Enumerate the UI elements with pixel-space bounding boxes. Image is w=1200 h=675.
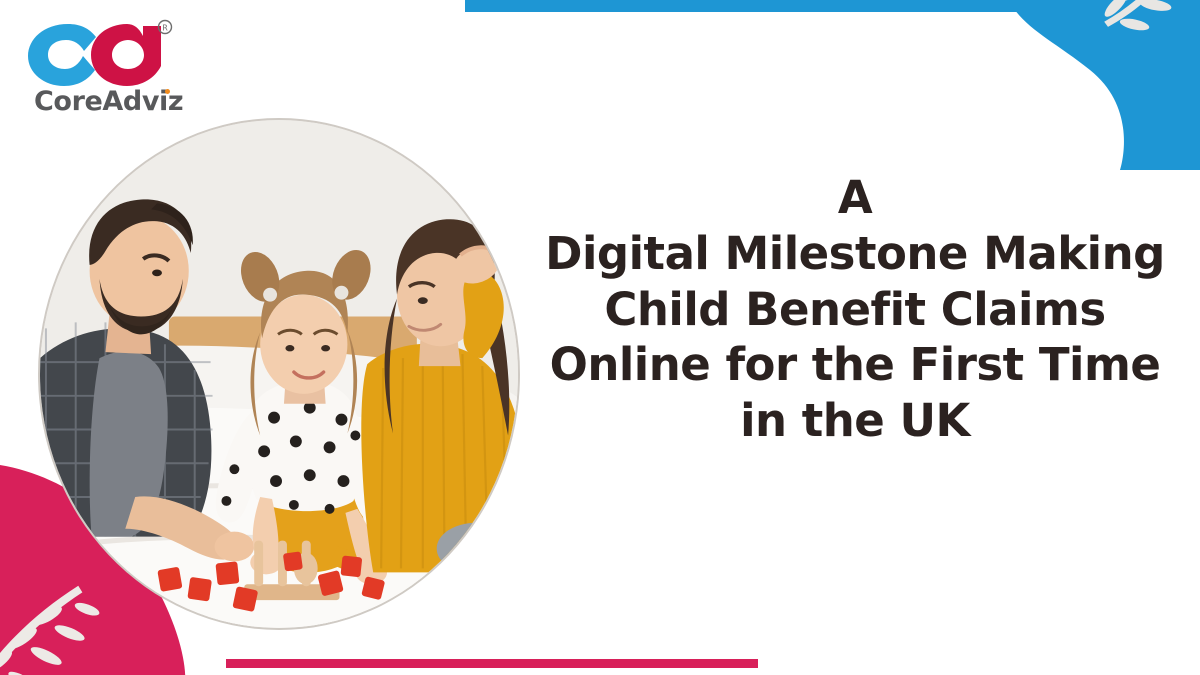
olive-branch-icon <box>1091 0 1200 44</box>
svg-text:R: R <box>162 24 168 33</box>
page-title: A Digital Milestone Making Child Benefit… <box>520 170 1190 449</box>
headline-line-4: Online for the First Time <box>520 337 1190 393</box>
brand-logo[interactable]: R CoreAdviz <box>24 18 194 115</box>
olive-branch-icon <box>0 573 104 675</box>
headline-line-5: in the UK <box>520 393 1190 449</box>
banner-canvas: R CoreAdviz <box>0 0 1200 675</box>
wordmark-orange-dot <box>165 89 170 94</box>
brand-wordmark-text: CoreAdviz <box>34 86 183 117</box>
family-photo <box>38 118 520 630</box>
brand-wordmark: CoreAdviz <box>34 88 194 115</box>
blue-corner-blob <box>940 0 1200 170</box>
crimson-bottom-bar <box>226 659 758 668</box>
family-photo-illustration <box>40 120 518 628</box>
headline-line-1: A <box>520 170 1190 226</box>
blue-top-bar <box>465 0 1025 12</box>
headline-line-3: Child Benefit Claims <box>520 282 1190 338</box>
headline-line-2: Digital Milestone Making <box>520 226 1190 282</box>
coreadviz-ca-infinity-logo: R <box>24 18 174 90</box>
